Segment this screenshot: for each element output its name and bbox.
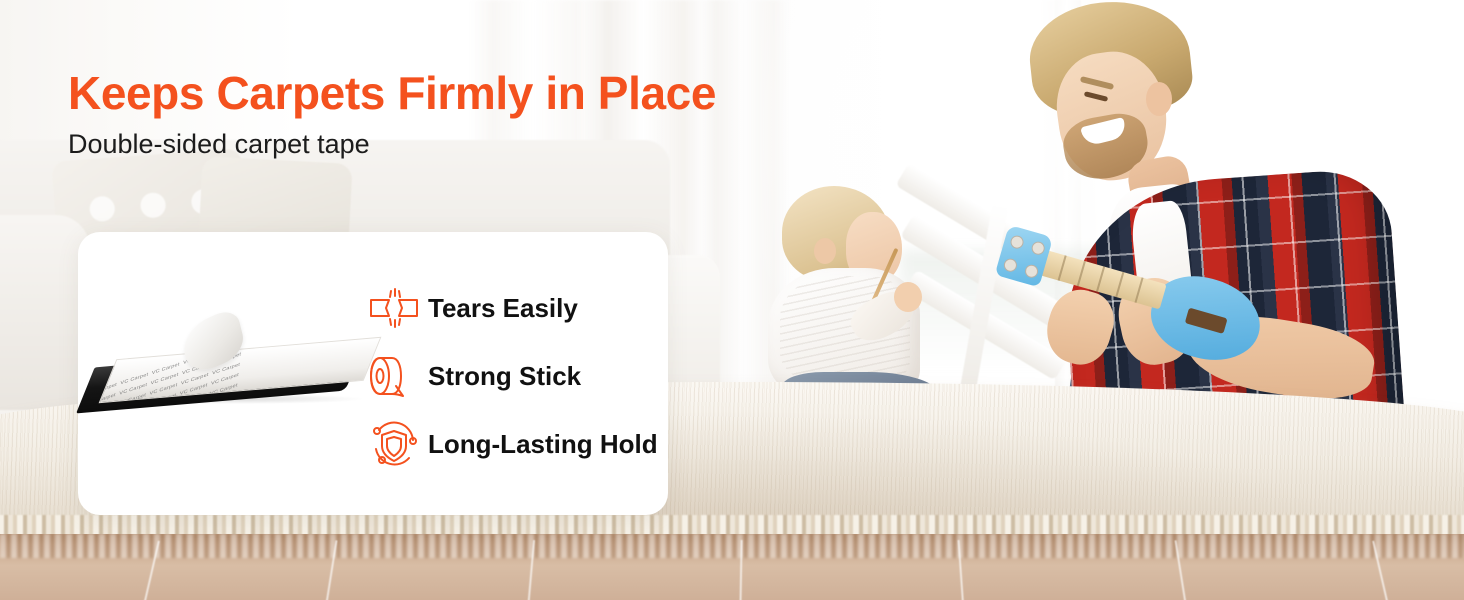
feature-label: Tears Easily — [428, 293, 578, 324]
product-banner: Keeps Carpets Firmly in Place Double-sid… — [0, 0, 1464, 600]
child-ear — [814, 238, 836, 264]
subtitle: Double-sided carpet tape — [68, 129, 370, 160]
feature-label: Long-Lasting Hold — [428, 429, 658, 460]
feature-card: VC Carpet VC Carpet VC Carpet VC Carpet … — [78, 232, 668, 515]
wood-floor — [0, 534, 1464, 600]
ukulele-neck — [1040, 250, 1166, 309]
product-image: VC Carpet VC Carpet VC Carpet VC Carpet … — [86, 328, 366, 418]
headline: Keeps Carpets Firmly in Place — [68, 66, 716, 120]
sofa-armrest — [0, 215, 90, 410]
feature-list: Tears Easily Strong Stick — [366, 274, 666, 478]
tear-tape-icon — [366, 284, 422, 332]
floor-reflection — [0, 534, 1464, 558]
man-ear — [1146, 82, 1172, 116]
tape-roll-icon — [366, 352, 422, 400]
child-hand — [894, 282, 922, 312]
feature-label: Strong Stick — [428, 361, 581, 392]
feature-item-tears-easily: Tears Easily — [366, 274, 666, 342]
shield-orbit-icon — [366, 420, 422, 468]
feature-item-long-lasting-hold: Long-Lasting Hold — [366, 410, 666, 478]
feature-item-strong-stick: Strong Stick — [366, 342, 666, 410]
